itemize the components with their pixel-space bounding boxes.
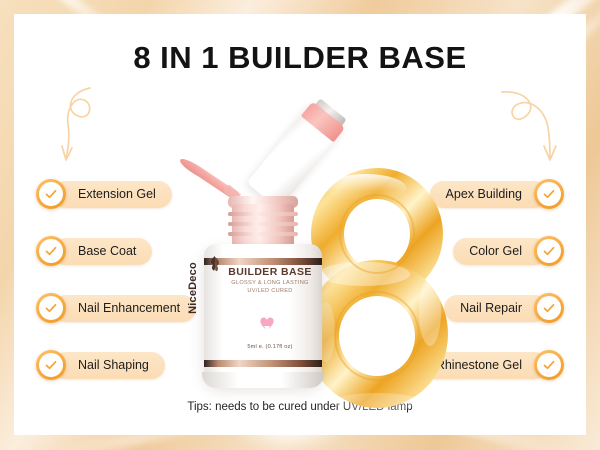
check-icon	[36, 350, 66, 380]
leaf-icon	[208, 256, 222, 272]
neck-thread-ring	[228, 232, 298, 236]
product-subtitle-1: GLOSSY & LONG LASTING	[222, 280, 318, 286]
check-icon	[534, 293, 564, 323]
curl-arrow-icon	[492, 84, 570, 164]
check-icon	[534, 236, 564, 266]
curl-arrow-icon	[60, 84, 138, 164]
page-title: 8 IN 1 BUILDER BASE	[14, 40, 586, 76]
feature-item-extension-gel[interactable]: Extension Gel	[36, 178, 172, 210]
product-poster: 8 IN 1 BUILDER BASE Extension Gel Base C…	[0, 0, 600, 450]
product-bottle: NiceDeco BUILDER BASE GLOSSY & LONG LAST…	[164, 86, 374, 416]
check-icon	[36, 293, 66, 323]
feature-label: Base Coat	[52, 238, 152, 265]
label-stripe-bottom	[204, 360, 322, 367]
neck-thread-ring	[228, 212, 298, 216]
check-icon	[534, 179, 564, 209]
feature-label: Nail Repair	[444, 295, 548, 322]
bottle-label: BUILDER BASE GLOSSY & LONG LASTING UV/LE…	[222, 266, 318, 294]
feature-item-color-gel[interactable]: Color Gel	[453, 235, 564, 267]
check-icon	[36, 179, 66, 209]
feature-label: Nail Shaping	[52, 352, 165, 379]
bottle-cap	[247, 102, 345, 209]
feature-item-nail-repair[interactable]: Nail Repair	[444, 292, 564, 324]
product-volume: 5ml e. (0.17fl oz)	[222, 344, 318, 350]
neck-thread-ring	[228, 222, 298, 226]
white-card: 8 IN 1 BUILDER BASE Extension Gel Base C…	[14, 14, 586, 435]
bottle-neck	[232, 204, 294, 248]
feature-item-base-coat[interactable]: Base Coat	[36, 235, 152, 267]
product-name: BUILDER BASE	[222, 266, 318, 278]
feature-label: Extension Gel	[52, 181, 172, 208]
heart-icon	[258, 314, 276, 332]
bottle-base	[202, 372, 324, 388]
brand-name: NiceDeco	[187, 253, 199, 323]
check-icon	[534, 350, 564, 380]
product-subtitle-2: UV/LED CURED	[222, 288, 318, 294]
feature-item-apex-building[interactable]: Apex Building	[430, 178, 564, 210]
feature-item-nail-shaping[interactable]: Nail Shaping	[36, 349, 165, 381]
check-icon	[36, 236, 66, 266]
